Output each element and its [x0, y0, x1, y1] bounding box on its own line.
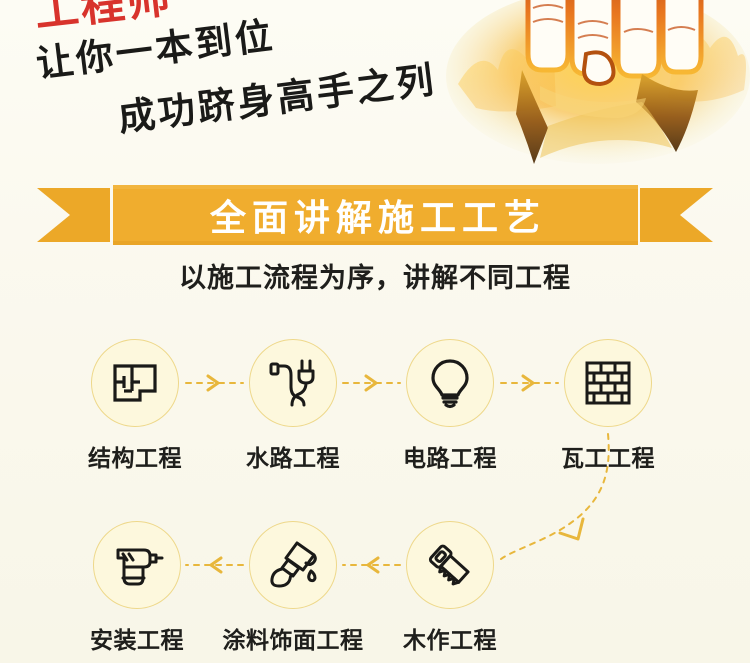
flow-node-bubble [406, 339, 494, 427]
flow-node-bubble [91, 339, 179, 427]
flow-node-label: 木作工程 [370, 621, 530, 655]
flow-node-bubble [406, 521, 494, 609]
hand-saw-icon [424, 539, 476, 591]
flow-node-wagong[interactable]: 瓦工工程 [528, 339, 688, 473]
flow-node-muzuo[interactable]: 木作工程 [370, 521, 530, 655]
water-pipe-icon [268, 357, 318, 409]
flow-node-jiegou[interactable]: 结构工程 [55, 339, 215, 473]
power-drill-icon [110, 540, 164, 590]
paint-brush-icon [267, 539, 319, 591]
flow-node-bubble [249, 521, 337, 609]
flow-node-label: 瓦工工程 [528, 439, 688, 473]
flow-node-tuliao[interactable]: 涂料饰面工程 [213, 521, 373, 655]
floor-plan-icon [110, 358, 160, 408]
flow-node-label: 涂料饰面工程 [213, 621, 373, 655]
flow-node-bubble [564, 339, 652, 427]
promo-page: 工程师 让你一本到位 成功跻身高手之列 [0, 0, 750, 663]
light-bulb-icon [427, 357, 473, 409]
process-flow: 结构工程 水路 [0, 0, 750, 663]
flow-node-dianlu[interactable]: 电路工程 [370, 339, 530, 473]
flow-node-label: 电路工程 [370, 439, 530, 473]
flow-node-label: 结构工程 [55, 439, 215, 473]
flow-node-shuilu[interactable]: 水路工程 [213, 339, 373, 473]
flow-node-bubble [93, 521, 181, 609]
brick-wall-icon [583, 359, 633, 407]
flow-node-anzhuang[interactable]: 安装工程 [57, 521, 217, 655]
flow-node-label: 安装工程 [57, 621, 217, 655]
flow-node-bubble [249, 339, 337, 427]
flow-node-label: 水路工程 [213, 439, 373, 473]
